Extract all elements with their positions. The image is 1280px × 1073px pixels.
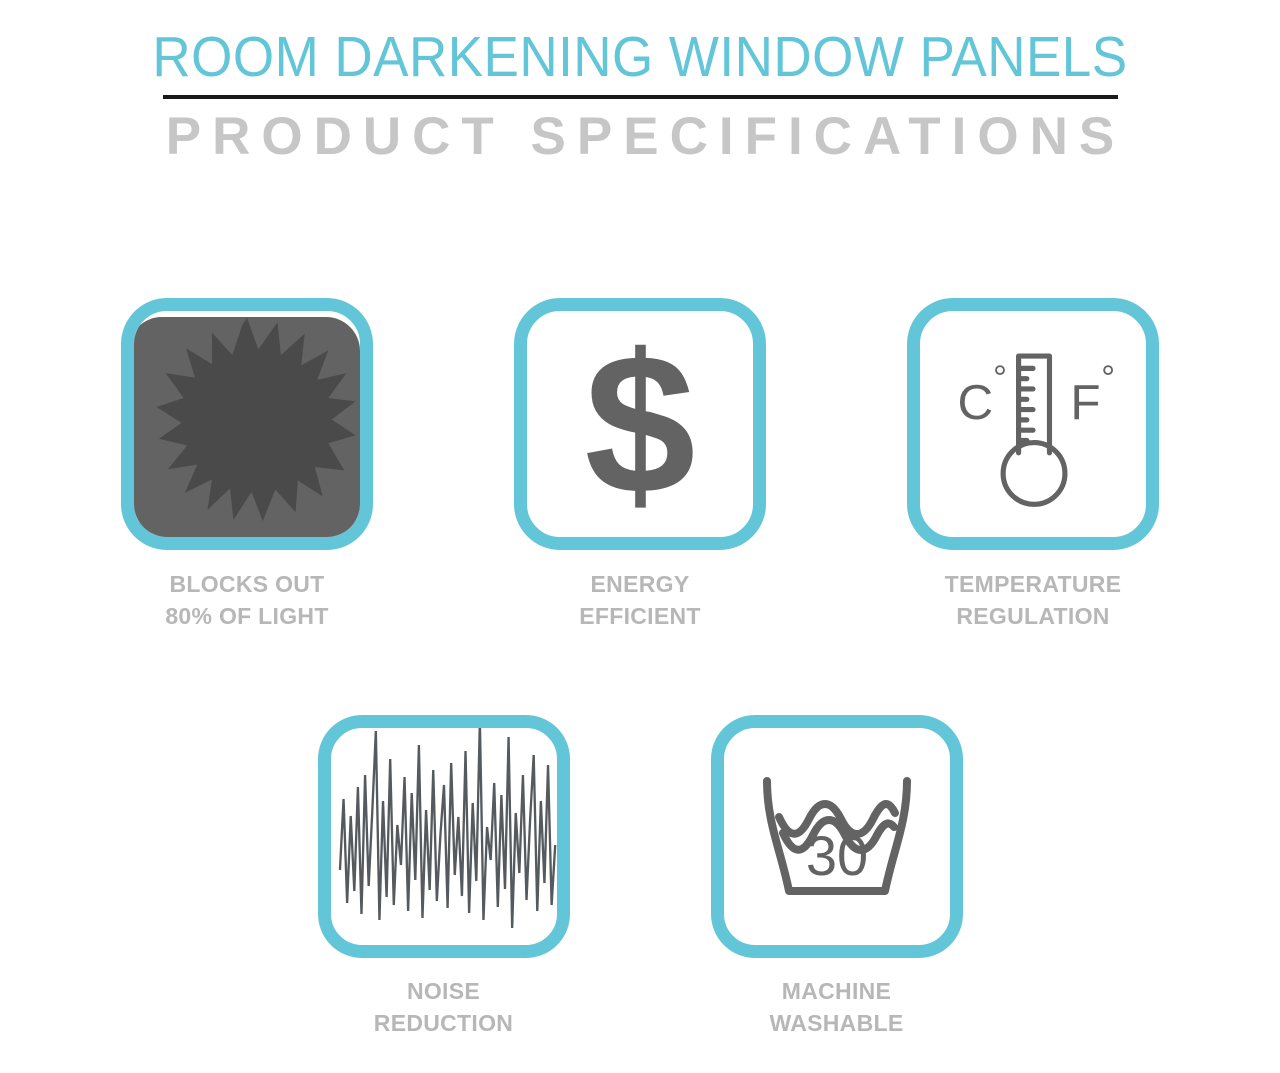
icon-tile-energy-efficient: $ (514, 298, 766, 550)
feature-caption-temperature-regulation: TEMPERATURE REGULATION (945, 568, 1122, 632)
feature-caption-machine-washable: MACHINE WASHABLE (769, 975, 903, 1039)
feature-card-temperature-regulation[interactable]: C ° F ° TEMPERATURE REGULATION (902, 298, 1164, 632)
fahrenheit-degree-symbol: ° (1101, 359, 1115, 398)
feature-card-machine-washable[interactable]: 30 MACHINE WASHABLE (706, 715, 968, 1039)
page-subtitle: PRODUCT SPECIFICATIONS (0, 99, 1280, 168)
icon-tile-temperature-regulation: C ° F ° (907, 298, 1159, 550)
dollar-sign-icon: $ (527, 311, 753, 537)
feature-card-noise-reduction[interactable]: NOISE REDUCTION (313, 715, 575, 1039)
wash-temperature-label: 30 (805, 824, 867, 887)
feature-grid: BLOCKS OUT 80% OF LIGHT $ ENERGY EFFICIE… (0, 298, 1280, 1039)
feature-card-blocks-light[interactable]: BLOCKS OUT 80% OF LIGHT (116, 298, 378, 632)
icon-tile-machine-washable: 30 (711, 715, 963, 958)
feature-row-2: NOISE REDUCTION (0, 715, 1280, 1039)
svg-text:$: $ (585, 329, 696, 519)
feature-caption-noise-reduction: NOISE REDUCTION (374, 975, 513, 1039)
thermometer-icon: C ° F ° (920, 311, 1146, 537)
feature-caption-blocks-light: BLOCKS OUT 80% OF LIGHT (165, 568, 328, 632)
sound-waveform-icon (331, 728, 557, 945)
wash-tub-icon: 30 (724, 728, 950, 945)
fahrenheit-label: F (1070, 375, 1100, 430)
darkened-sun-icon (134, 311, 360, 537)
feature-card-energy-efficient[interactable]: $ ENERGY EFFICIENT (509, 298, 771, 632)
page-title: ROOM DARKENING WINDOW PANELS (45, 0, 1235, 88)
feature-row-1: BLOCKS OUT 80% OF LIGHT $ ENERGY EFFICIE… (0, 298, 1280, 632)
celsius-degree-symbol: ° (993, 359, 1007, 398)
celsius-label: C (957, 375, 993, 430)
infographic-page: ROOM DARKENING WINDOW PANELS PRODUCT SPE… (0, 0, 1280, 1073)
header: ROOM DARKENING WINDOW PANELS PRODUCT SPE… (0, 0, 1280, 168)
icon-tile-blocks-light (121, 298, 373, 550)
icon-tile-noise-reduction (318, 715, 570, 958)
feature-caption-energy-efficient: ENERGY EFFICIENT (579, 568, 701, 632)
